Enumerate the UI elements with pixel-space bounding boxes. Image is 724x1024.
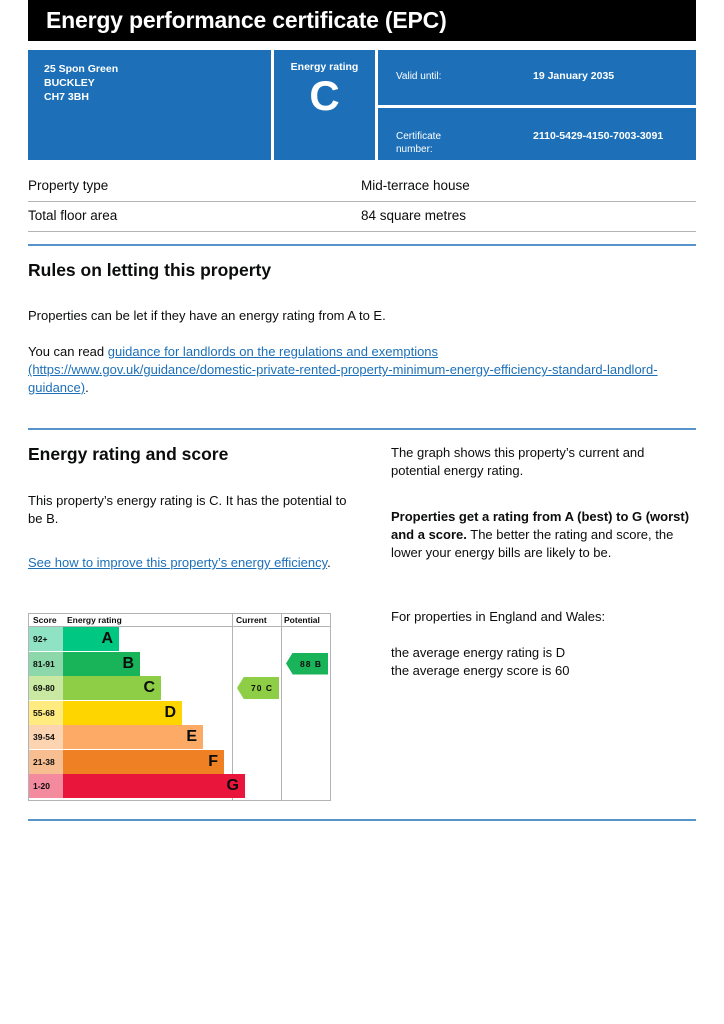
band-letter-c: C [143,676,155,700]
total-floor-area-label: Total floor area [28,207,117,225]
certificate-number-label: Certificatenumber: [396,130,506,156]
rating-section-heading: Energy rating and score [28,443,228,465]
graph-divider-potential [281,614,282,800]
address-line-2: BUCKLEY [44,76,261,90]
page-title: Energy performance certificate (EPC) [28,0,447,41]
band-bar-e: E [63,725,203,749]
landlord-guidance-paragraph: You can read guidance for landlords on t… [28,343,700,397]
improve-efficiency-link[interactable]: See how to improve this property’s energ… [28,555,327,570]
band-letter-d: D [164,701,176,725]
address-line-3: CH7 3BH [44,90,261,104]
valid-until-label: Valid until: [396,70,506,83]
band-bar-c: C [63,676,161,700]
graph-header-current: Current [236,614,267,627]
potential-rating-arrow: 88 B [286,653,328,675]
valid-until-value: 19 January 2035 [533,70,614,83]
certificate-number-value: 2110-5429-4150-7003-3091 [533,130,663,143]
average-rating-text: the average energy rating is D [391,644,696,662]
address-line-1: 25 Spon Green [44,62,261,76]
rating-left-paragraph: This property’s energy rating is C. It h… [28,492,358,528]
section-divider-rules [28,244,696,246]
valid-until-row: Valid until: 19 January 2035 [378,50,696,105]
improve-efficiency-paragraph: See how to improve this property’s energ… [28,554,358,572]
energy-rating-block: Energy rating C [274,50,375,160]
average-score-text: the average energy score is 60 [391,662,696,680]
current-rating-arrow: 70 C [237,677,279,699]
graph-explanation-paragraph: The graph shows this property’s current … [391,444,696,480]
trailing-period: . [85,380,89,395]
epc-rating-graph: Score Energy rating Current Potential 92… [28,613,331,801]
band-bar-a: A [63,627,119,651]
band-score-range-g: 1-20 [29,774,63,798]
document-title-bar: Energy performance certificate (EPC) [28,0,696,41]
band-letter-f: F [208,750,218,774]
table-row: Property type Mid-terrace house [28,172,696,202]
certificate-summary: 25 Spon Green BUCKLEY CH7 3BH Energy rat… [28,50,696,160]
band-letter-e: E [186,725,197,749]
read-prefix: You can read [28,344,108,359]
landlord-guidance-url[interactable]: (https://www.gov.uk/guidance/domestic-pr… [28,362,658,395]
band-score-range-e: 39-54 [29,725,63,749]
graph-divider-current [232,614,233,800]
section-divider-bottom [28,819,696,821]
property-type-value: Mid-terrace house [361,177,470,195]
certificate-meta-block: Valid until: 19 January 2035 Certificate… [378,50,696,160]
graph-header-score: Score [33,614,57,627]
improve-trailing: . [327,555,331,570]
total-floor-area-value: 84 square metres [361,207,466,225]
band-letter-g: G [227,774,239,798]
rating-scale-paragraph: Properties get a rating from A (best) to… [391,508,696,562]
band-score-range-a: 92+ [29,627,63,651]
graph-header-row: Score Energy rating Current Potential [29,614,330,627]
band-bar-g: G [63,774,245,798]
energy-rating-grade: C [274,72,375,120]
band-letter-b: B [122,652,134,676]
landlord-guidance-link[interactable]: guidance for landlords on the regulation… [108,344,438,359]
band-score-range-c: 69-80 [29,676,63,700]
section-divider-rating [28,428,696,430]
rules-paragraph: Properties can be let if they have an en… [28,307,628,325]
epc-document-page: Energy performance certificate (EPC) 25 … [0,0,724,1024]
property-address-block: 25 Spon Green BUCKLEY CH7 3BH [28,50,271,160]
property-type-label: Property type [28,177,108,195]
table-row: Total floor area 84 square metres [28,202,696,232]
band-score-range-f: 21-38 [29,750,63,774]
certificate-number-row: Certificatenumber: 2110-5429-4150-7003-3… [378,108,696,160]
england-wales-label: For properties in England and Wales: [391,608,696,626]
band-letter-a: A [101,627,113,651]
graph-header-energy-rating: Energy rating [67,614,122,627]
graph-header-potential: Potential [284,614,320,627]
band-score-range-b: 81-91 [29,652,63,676]
property-facts-table: Property type Mid-terrace house Total fl… [28,172,696,232]
band-bar-f: F [63,750,224,774]
band-bar-b: B [63,652,140,676]
rules-heading: Rules on letting this property [28,259,271,281]
band-bar-d: D [63,701,182,725]
band-score-range-d: 55-68 [29,701,63,725]
